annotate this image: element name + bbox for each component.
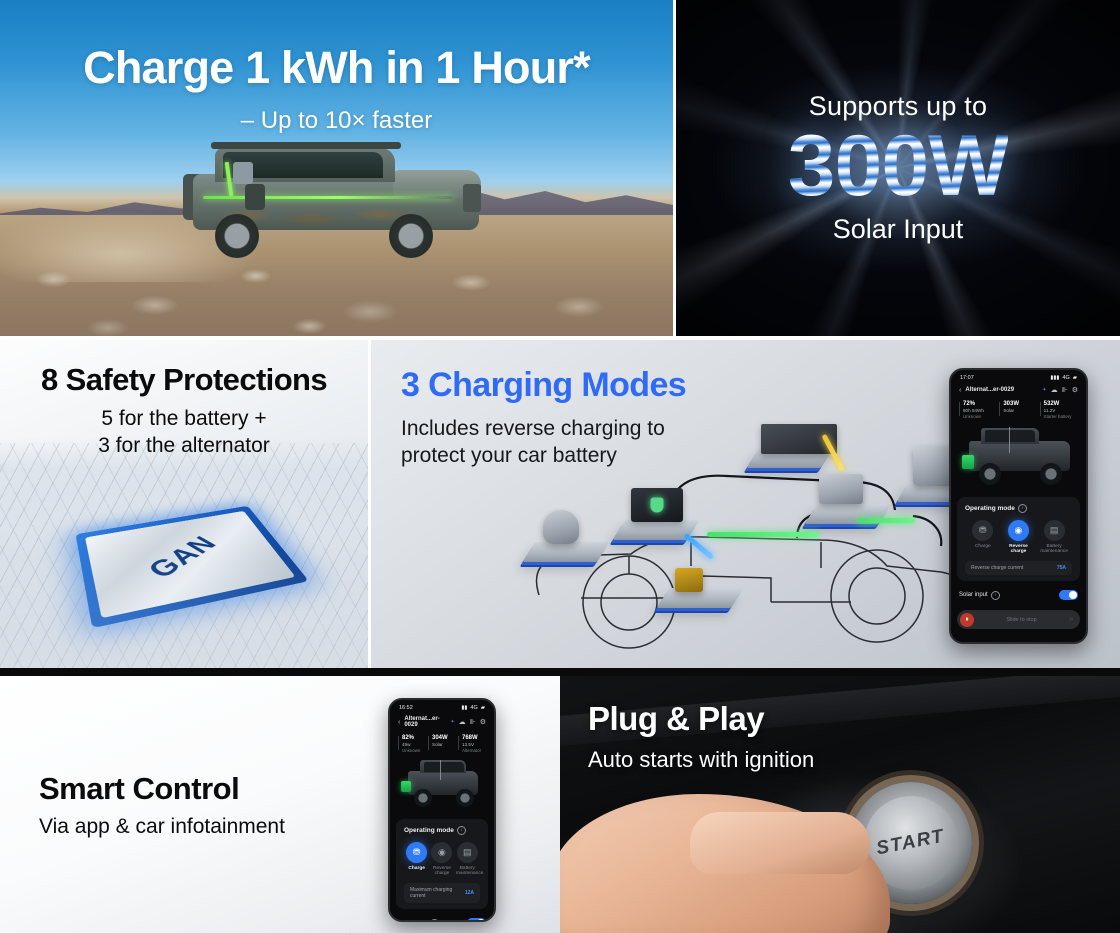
cable-green-left bbox=[707, 532, 819, 537]
green-cable-highlight bbox=[203, 196, 453, 199]
start-button-label: START bbox=[875, 826, 947, 861]
solar-input-toggle[interactable] bbox=[467, 918, 486, 922]
current-setting-row[interactable]: Maximum charging current 12A bbox=[404, 883, 480, 903]
shield-icon bbox=[651, 498, 664, 513]
device-title: Alternat...er-0029 bbox=[965, 387, 1038, 393]
phone-app-reverse-charge[interactable]: 17:07 ▮▮▮ 4G ▰ ‹ Alternat...er-0029 ✦ ☁ … bbox=[949, 368, 1088, 644]
mode-button-battery-maintenance[interactable]: ▤ Battery maintenance bbox=[1038, 520, 1070, 556]
vehicle-outline-sketch bbox=[521, 390, 991, 665]
phone-app-header: ‹ Alternat...er-0029 ✦ ☁ ⊪ ⚙ bbox=[390, 713, 494, 733]
vehicle-wiring-diagram bbox=[521, 390, 991, 665]
current-value: 12A bbox=[465, 890, 474, 896]
car-icon: ⛃ bbox=[972, 520, 993, 541]
gear-icon[interactable]: ⚙ bbox=[480, 718, 486, 726]
divider-horizontal-2 bbox=[0, 668, 1120, 676]
mode-label: Charge bbox=[405, 866, 428, 872]
solar-input-label: Solar input bbox=[959, 592, 988, 598]
cloud-icon[interactable]: ☁ bbox=[1051, 386, 1058, 394]
current-value: 75A bbox=[1057, 565, 1066, 571]
car-icon: ⛃ bbox=[406, 842, 427, 863]
solar-bottom-line: Solar Input bbox=[833, 214, 964, 245]
battery-icon: ▤ bbox=[1044, 520, 1065, 541]
solar-big-value: 300W bbox=[788, 124, 1009, 208]
mode-button-reverse-charge[interactable]: ◉ Reverse charge bbox=[431, 842, 454, 878]
safety-sub-line-1: 5 for the battery + bbox=[0, 406, 368, 433]
cloud-icon[interactable]: ☁ bbox=[459, 718, 466, 726]
operating-mode-label: Operating mode bbox=[965, 505, 1015, 512]
battery-icon: ▰ bbox=[1073, 375, 1077, 381]
solar-input-label: Solar input bbox=[398, 920, 427, 922]
info-icon[interactable]: i bbox=[1018, 504, 1027, 513]
phone-status-bar: 16:52 ▮▮ 4G ▰ bbox=[390, 700, 494, 713]
solar-input-toggle[interactable] bbox=[1059, 590, 1078, 600]
panel-charge-speed: Charge 1 kWh in 1 Hour* – Up to 10× fast… bbox=[0, 0, 673, 336]
mode-label: Reverse charge bbox=[1002, 544, 1034, 556]
safety-headline: 8 Safety Protections bbox=[0, 362, 368, 398]
smart-subhead: Via app & car infotainment bbox=[39, 815, 285, 839]
slider-text: Slide to stop bbox=[974, 617, 1069, 623]
stat-line1: 80h 84Wh bbox=[963, 408, 997, 413]
operating-mode-card: Operating mode i ⛃ Charge ◉ Reverse char… bbox=[396, 819, 488, 910]
stat-value: 303W bbox=[1003, 401, 1037, 407]
stat-line2: Alternator bbox=[462, 748, 486, 753]
mode-selector[interactable]: ⛃ Charge ◉ Reverse charge ▤ Battery main… bbox=[404, 842, 480, 878]
stat-line2: Unknown bbox=[402, 748, 426, 753]
panel-plug-and-play: START Plug & Play Auto starts with ignit… bbox=[560, 676, 1120, 933]
slide-to-stop-control[interactable]: ⏸ Slide to stop ›› bbox=[957, 610, 1080, 629]
plug-headline: Plug & Play bbox=[588, 700, 814, 738]
network-label: 4G bbox=[1062, 375, 1069, 381]
smart-text-overlay: Smart Control Via app & car infotainment bbox=[39, 771, 285, 839]
mode-label: Reverse charge bbox=[431, 866, 454, 878]
phone-status-bar: 17:07 ▮▮▮ 4G ▰ bbox=[951, 370, 1086, 383]
phone-app-charge-mode[interactable]: 16:52 ▮▮ 4G ▰ ‹ Alternat...er-0029 ✦ ☁ ⊪… bbox=[388, 698, 496, 922]
current-setting-row[interactable]: Reverse charge current 75A bbox=[965, 561, 1072, 575]
stat-battery: 72% 80h 84Wh Unknown bbox=[959, 401, 997, 419]
stat-line1: 11.2V bbox=[1044, 408, 1078, 413]
divider-vertical-top bbox=[673, 0, 676, 336]
battery-icon: ▰ bbox=[481, 705, 485, 711]
signal-icon: ▮▮ bbox=[461, 705, 467, 711]
stat-alternator: 768W 13.5V Alternator bbox=[458, 735, 486, 753]
battery-icon: ▤ bbox=[457, 842, 478, 863]
stat-value: 304W bbox=[432, 735, 456, 741]
stat-line2: Unknown bbox=[963, 414, 997, 419]
current-label: Reverse charge current bbox=[971, 565, 1023, 571]
charge-text-overlay: Charge 1 kWh in 1 Hour* – Up to 10× fast… bbox=[0, 0, 673, 135]
cable-green-right bbox=[857, 518, 915, 523]
bluetooth-icon: ✦ bbox=[1042, 387, 1046, 393]
feature-collage: Charge 1 kWh in 1 Hour* – Up to 10× fast… bbox=[0, 0, 1120, 933]
stat-value: 768W bbox=[462, 735, 486, 741]
reverse-icon: ◉ bbox=[1008, 520, 1029, 541]
alternator-unit bbox=[543, 510, 579, 544]
stat-line1: Solar bbox=[1003, 408, 1037, 413]
car-battery-unit bbox=[631, 488, 683, 522]
stats-icon[interactable]: ⊪ bbox=[470, 718, 476, 726]
charger-unit bbox=[819, 474, 863, 504]
info-icon[interactable]: i bbox=[430, 919, 439, 922]
chevron-right-icon: ›› bbox=[1069, 617, 1077, 623]
chip-glow bbox=[0, 548, 368, 668]
back-chevron-icon[interactable]: ‹ bbox=[398, 719, 400, 726]
signal-icon: ▮▮▮ bbox=[1050, 375, 1059, 381]
stat-line2: Starter battery bbox=[1044, 414, 1078, 419]
battery-indicator bbox=[401, 781, 411, 792]
stats-icon[interactable]: ⊪ bbox=[1062, 386, 1068, 394]
phone-stats-row: 72% 80h 84Wh Unknown 303W Solar 532W 11.… bbox=[951, 399, 1086, 419]
operating-mode-card: Operating mode i ⛃ Charge ◉ Reverse char… bbox=[957, 497, 1080, 582]
phone-stats-row: 82% 49w Unknown 304W Solar 768W 13.5V Al… bbox=[390, 733, 494, 753]
stat-value: 532W bbox=[1044, 401, 1078, 407]
status-time: 17:07 bbox=[960, 375, 974, 381]
stat-value: 82% bbox=[402, 735, 426, 741]
info-icon[interactable]: i bbox=[457, 826, 466, 835]
solar-input-row[interactable]: Solar input i bbox=[396, 915, 488, 922]
mode-button-charge[interactable]: ⛃ Charge bbox=[405, 842, 428, 878]
charge-headline: Charge 1 kWh in 1 Hour* bbox=[0, 42, 673, 94]
stat-line1: 49w bbox=[402, 742, 426, 747]
network-label: 4G bbox=[470, 705, 477, 711]
status-time: 16:52 bbox=[399, 705, 413, 711]
mode-button-battery-maintenance[interactable]: ▤ Battery maintenance bbox=[456, 842, 479, 878]
panel-safety-protections: GAN 8 Safety Protections 5 for the batte… bbox=[0, 340, 368, 668]
mode-button-charge[interactable]: ⛃ Charge bbox=[967, 520, 999, 556]
hand-pressing-button bbox=[560, 794, 890, 933]
charge-subhead: – Up to 10× faster bbox=[0, 107, 673, 135]
mode-button-reverse-charge[interactable]: ◉ Reverse charge bbox=[1002, 520, 1034, 556]
stat-solar: 304W Solar bbox=[428, 735, 456, 753]
stat-value: 72% bbox=[963, 401, 997, 407]
info-icon[interactable]: i bbox=[991, 591, 1000, 600]
solar-text-overlay: Supports up to 300W Solar Input bbox=[676, 0, 1120, 336]
divider-vertical-middle bbox=[368, 340, 371, 668]
reverse-icon: ◉ bbox=[431, 842, 452, 863]
mode-selector[interactable]: ⛃ Charge ◉ Reverse charge ▤ Battery main… bbox=[965, 520, 1072, 556]
pause-icon[interactable]: ⏸ bbox=[960, 613, 974, 627]
mode-label: Battery maintenance bbox=[456, 866, 479, 878]
panel-smart-control: Smart Control Via app & car infotainment… bbox=[0, 676, 560, 933]
current-label: Maximum charging current bbox=[410, 887, 465, 899]
mode-label: Battery maintenance bbox=[1038, 544, 1070, 556]
diagram-pad-alternator bbox=[523, 542, 609, 562]
divider-horizontal-1 bbox=[0, 336, 1120, 340]
stat-solar: 303W Solar bbox=[999, 401, 1037, 419]
stat-battery: 82% 49w Unknown bbox=[398, 735, 426, 753]
stat-line1: Solar bbox=[432, 742, 456, 747]
device-title: Alternat...er-0029 bbox=[404, 716, 446, 728]
stat-starter-battery: 532W 11.2V Starter battery bbox=[1040, 401, 1078, 419]
panel-solar-input: Supports up to 300W Solar Input bbox=[676, 0, 1120, 336]
fuse-unit bbox=[675, 568, 703, 592]
safety-text-overlay: 8 Safety Protections 5 for the battery +… bbox=[0, 362, 368, 460]
plug-text-overlay: Plug & Play Auto starts with ignition bbox=[588, 700, 814, 773]
bluetooth-icon: ✦ bbox=[450, 719, 454, 725]
operating-mode-label: Operating mode bbox=[404, 827, 454, 834]
stat-line1: 13.5V bbox=[462, 742, 486, 747]
vehicle-render bbox=[957, 421, 1080, 493]
safety-sub-line-2: 3 for the alternator bbox=[0, 433, 368, 460]
charger-device bbox=[233, 162, 253, 184]
gear-icon[interactable]: ⚙ bbox=[1072, 386, 1078, 394]
plug-subhead: Auto starts with ignition bbox=[588, 747, 814, 773]
smart-headline: Smart Control bbox=[39, 771, 285, 807]
battery-indicator bbox=[962, 455, 974, 469]
solar-input-row[interactable]: Solar input i bbox=[957, 587, 1080, 603]
mode-label: Charge bbox=[967, 544, 999, 550]
vehicle-render bbox=[396, 755, 488, 815]
phone-app-header: ‹ Alternat...er-0029 ✦ ☁ ⊪ ⚙ bbox=[951, 383, 1086, 399]
back-chevron-icon[interactable]: ‹ bbox=[959, 387, 961, 394]
suv-vehicle-photo bbox=[175, 140, 495, 265]
panel-charging-modes: 3 Charging Modes Includes reverse chargi… bbox=[371, 340, 1120, 668]
